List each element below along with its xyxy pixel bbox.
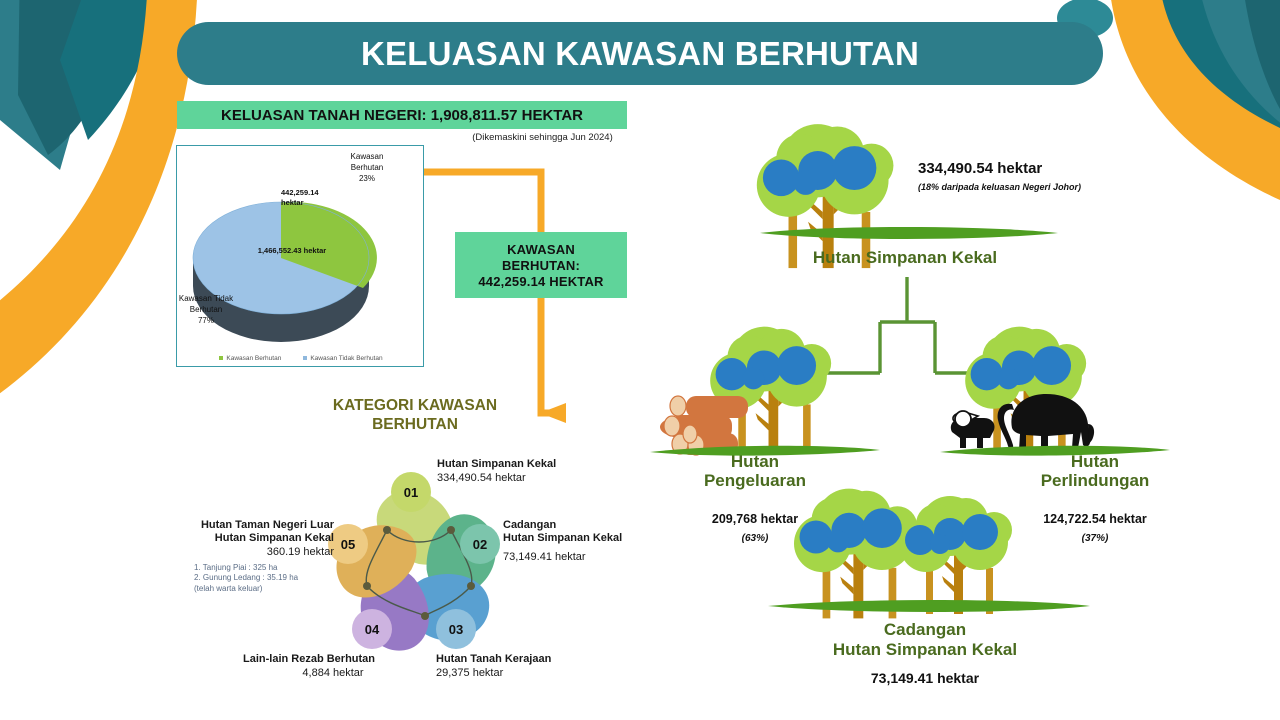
hutan-perlindungan-value: 124,722.54 hektar bbox=[1000, 512, 1190, 526]
callout-line-2: BERHUTAN: bbox=[502, 258, 580, 273]
hutan-pengeluaran-percent: (63%) bbox=[660, 533, 850, 544]
hsk-label: Hutan Simpanan Kekal bbox=[760, 248, 1050, 268]
legend-item-berhutan: Kawasan Berhutan bbox=[219, 355, 281, 362]
pie-value-berhutan: 442,259.14 hektar bbox=[281, 188, 337, 208]
hutan-pengeluaran-value: 209,768 hektar bbox=[660, 512, 850, 526]
petal-number-04: 04 bbox=[365, 622, 380, 637]
updated-note: (Dikemaskini sehingga Jun 2024) bbox=[455, 132, 630, 143]
log-pile-icon bbox=[660, 396, 748, 455]
pie-legend: Kawasan Berhutan Kawasan Tidak Berhutan bbox=[177, 355, 425, 362]
callout-line-3: 442,259.14 HEKTAR bbox=[478, 274, 603, 289]
petal-number-bubbles bbox=[328, 472, 500, 649]
hsk-note: (18% daripada keluasan Negeri Johor) bbox=[918, 182, 1081, 192]
pie-value-tidak-berhutan: 1,466,552.43 hektar bbox=[232, 246, 352, 256]
pie-slice-label-berhutan: Kawasan Berhutan 23% bbox=[334, 152, 400, 184]
pie-chart: Kawasan Berhutan 23% 442,259.14 hektar 1… bbox=[177, 146, 425, 346]
callout-line-1: KAWASAN bbox=[507, 242, 575, 257]
pie-slice-label-tidak-berhutan: Kawasan Tidak Berhutan 77% bbox=[171, 294, 241, 326]
pie-chart-panel: Kawasan Berhutan 23% 442,259.14 hektar 1… bbox=[176, 145, 424, 367]
header-banner: KELUASAN KAWASAN BERHUTAN bbox=[177, 22, 1103, 85]
hutan-perlindungan-label: Hutan Perlindungan bbox=[1000, 452, 1190, 490]
tapir-icon bbox=[951, 411, 995, 448]
petal-label-05: Hutan Taman Negeri Luar Hutan Simpanan K… bbox=[176, 519, 334, 595]
petal-label-01: Hutan Simpanan Kekal 334,490.54 hektar bbox=[437, 458, 637, 485]
cadangan-hsk-value: 73,149.41 hektar bbox=[780, 670, 1070, 686]
state-area-strip: KELUASAN TANAH NEGERI: 1,908,811.57 HEKT… bbox=[177, 101, 627, 129]
petal-number-05: 05 bbox=[341, 537, 355, 552]
infographic-canvas: KELUASAN KAWASAN BERHUTAN KELUASAN TANAH… bbox=[0, 0, 1280, 720]
petal-label-04: Lain-lain Rezab Berhutan 4,884 hektar bbox=[243, 653, 423, 680]
petal-label-02: Cadangan Hutan Simpanan Kekal 73,149.41 … bbox=[503, 519, 683, 565]
kategori-heading: KATEGORI KAWASAN BERHUTAN bbox=[300, 396, 530, 435]
elephant-icon bbox=[998, 394, 1094, 450]
page-title: KELUASAN KAWASAN BERHUTAN bbox=[361, 35, 919, 73]
petal-number-01: 01 bbox=[404, 485, 418, 500]
kategori-line-1: KATEGORI KAWASAN bbox=[300, 396, 530, 415]
cadangan-hsk-label: Cadangan Hutan Simpanan Kekal bbox=[780, 620, 1070, 659]
petal-sub-3: (telah warta keluar) bbox=[194, 584, 334, 595]
petal-number-02: 02 bbox=[473, 537, 487, 552]
kategori-line-2: BERHUTAN bbox=[300, 415, 530, 434]
petal-label-03: Hutan Tanah Kerajaan 29,375 hektar bbox=[436, 653, 596, 680]
kawasan-berhutan-callout: KAWASAN BERHUTAN: 442,259.14 HEKTAR bbox=[455, 232, 627, 298]
hsk-value: 334,490.54 hektar bbox=[918, 160, 1042, 177]
petal-number-03: 03 bbox=[449, 622, 463, 637]
state-area-label: KELUASAN TANAH NEGERI: 1,908,811.57 HEKT… bbox=[221, 107, 583, 124]
hutan-perlindungan-percent: (37%) bbox=[1000, 533, 1190, 544]
petal-sub-2: 2. Gunung Ledang : 35.19 ha bbox=[194, 573, 334, 584]
hutan-pengeluaran-label: Hutan Pengeluaran bbox=[660, 452, 850, 490]
legend-item-tidak-berhutan: Kawasan Tidak Berhutan bbox=[303, 355, 382, 362]
petal-sub-1: 1. Tanjung Piai : 325 ha bbox=[194, 563, 334, 574]
